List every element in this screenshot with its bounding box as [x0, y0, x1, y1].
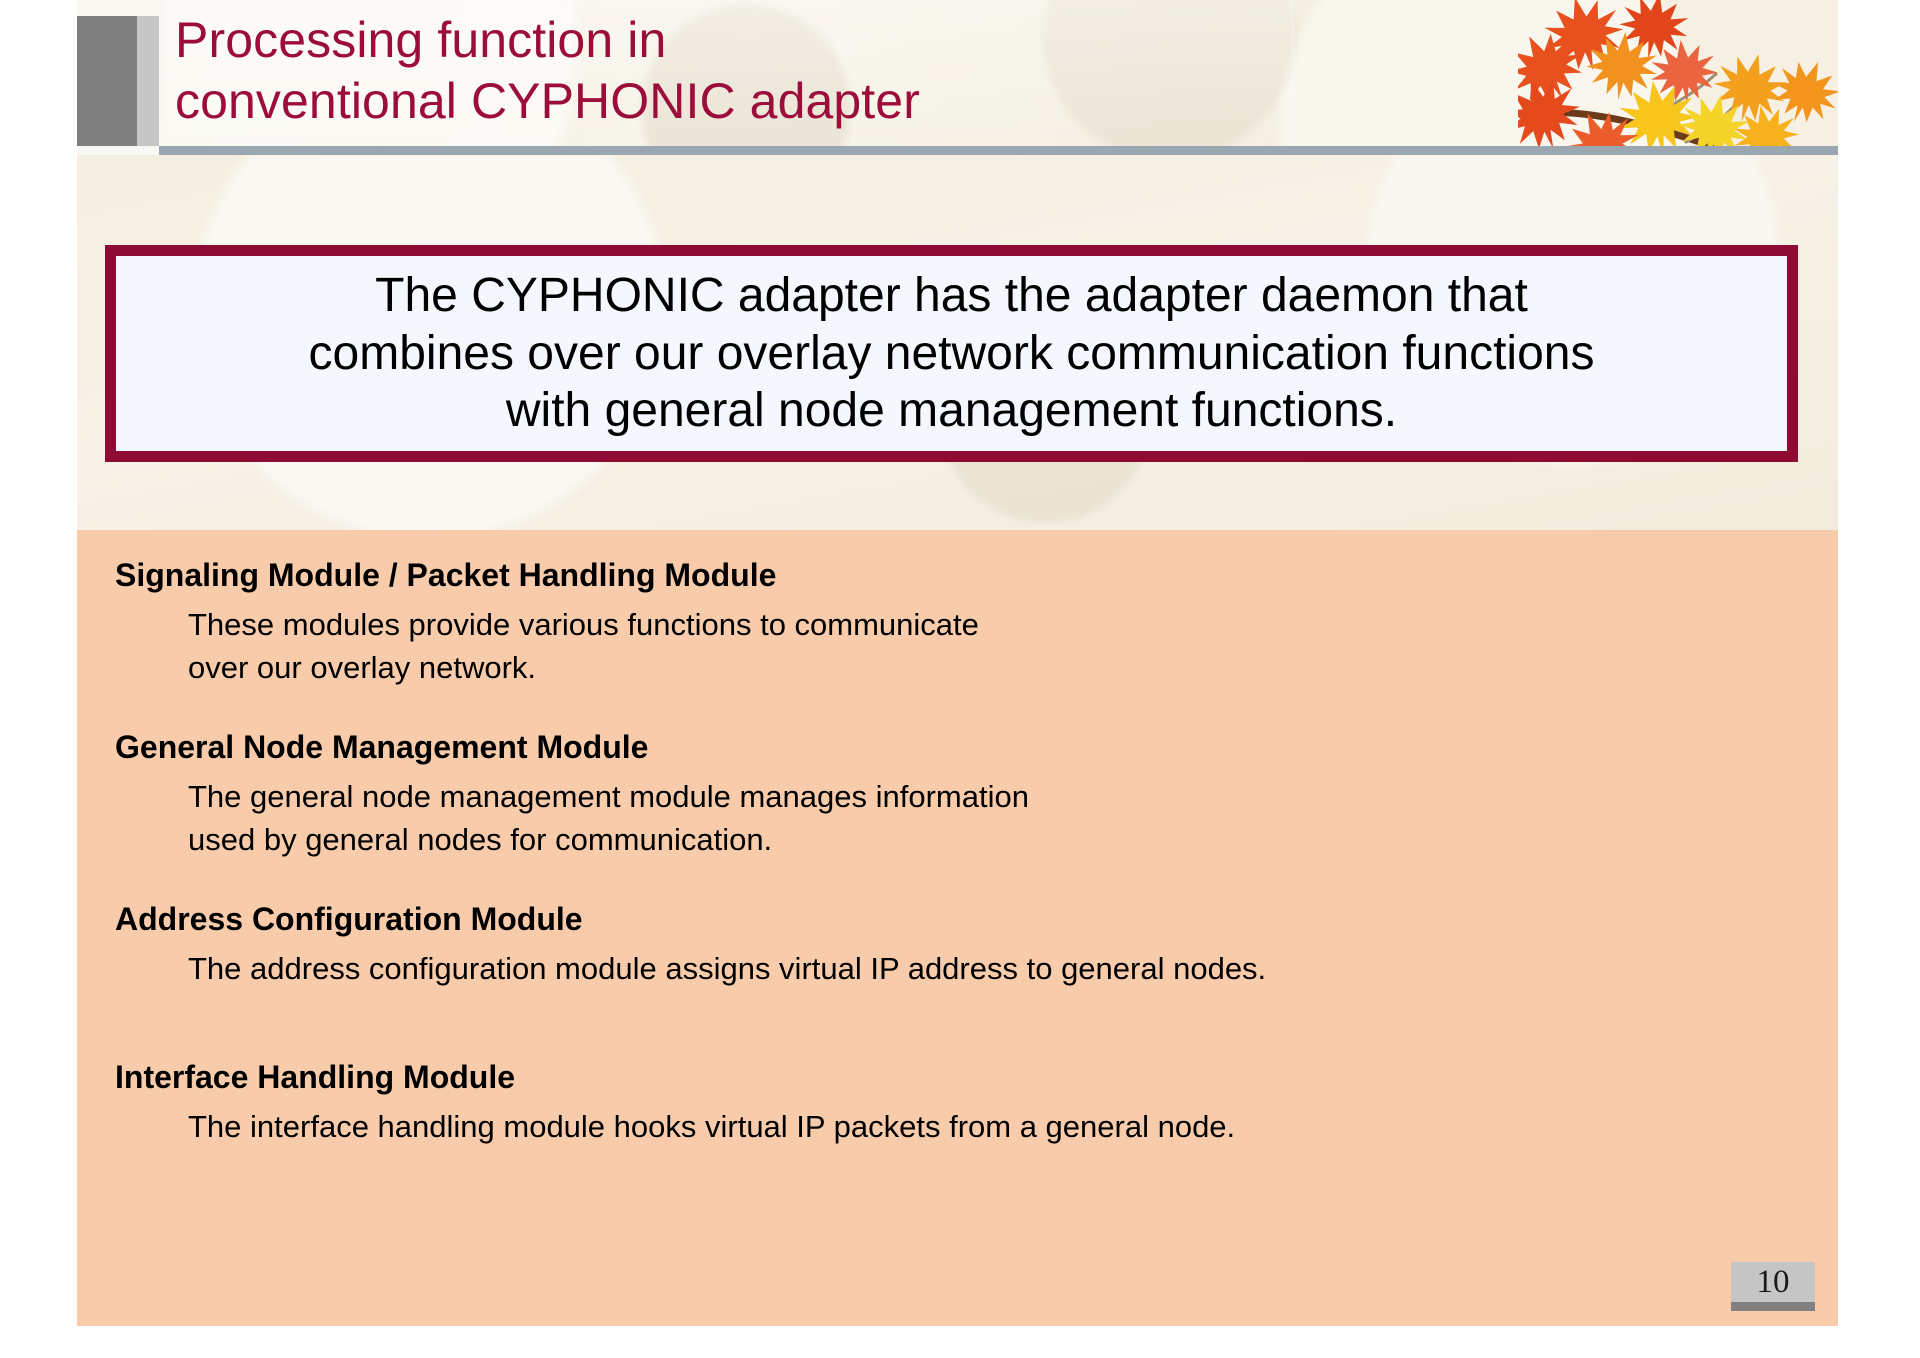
module-heading: Signaling Module / Packet Handling Modul…	[115, 558, 1805, 593]
module-description: The general node management module manag…	[188, 776, 1805, 862]
module-block-address-configuration: Address Configuration Module The address…	[115, 902, 1805, 991]
module-heading: General Node Management Module	[115, 730, 1805, 765]
module-heading: Interface Handling Module	[115, 1060, 1805, 1095]
page-number-badge: 10	[1731, 1262, 1815, 1311]
page-number-label: 10	[1757, 1266, 1790, 1299]
page-title: Processing function in conventional CYPH…	[175, 10, 1355, 132]
module-block-signaling: Signaling Module / Packet Handling Modul…	[115, 558, 1805, 690]
module-description: These modules provide various functions …	[188, 604, 1805, 690]
title-accent-bar-light	[137, 16, 159, 146]
module-list-section: Signaling Module / Packet Handling Modul…	[77, 530, 1838, 1326]
callout-text: The CYPHONIC adapter has the adapter dae…	[293, 267, 1611, 440]
slide-canvas: Processing function in conventional CYPH…	[77, 0, 1838, 1326]
module-block-interface-handling: Interface Handling Module The interface …	[115, 1060, 1805, 1149]
module-heading: Address Configuration Module	[115, 902, 1805, 937]
callout-area: The CYPHONIC adapter has the adapter dae…	[77, 155, 1838, 530]
title-divider-rule	[159, 146, 1838, 155]
module-block-general-node-management: General Node Management Module The gener…	[115, 730, 1805, 862]
title-accent-bar-dark	[77, 16, 137, 146]
callout-box: The CYPHONIC adapter has the adapter dae…	[105, 245, 1798, 462]
module-description: The address configuration module assigns…	[188, 948, 1805, 991]
module-description: The interface handling module hooks virt…	[188, 1106, 1805, 1149]
slide-header: Processing function in conventional CYPH…	[77, 0, 1838, 160]
